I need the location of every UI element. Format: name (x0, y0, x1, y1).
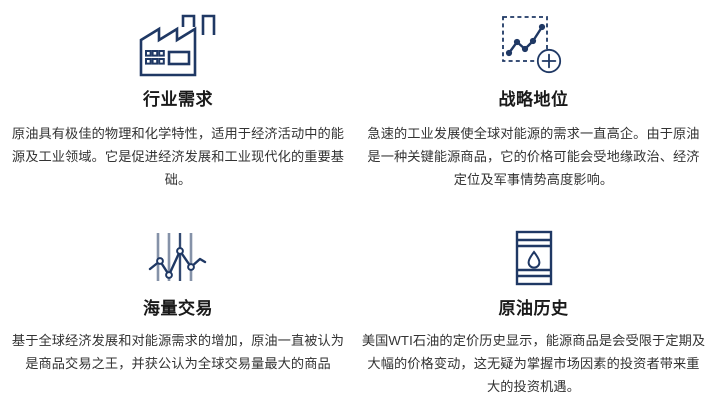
card-title: 行业需求 (143, 90, 213, 110)
factory-icon (137, 6, 219, 86)
feature-grid: 行业需求 原油具有极佳的物理和化学特性，适用于经济活动中的能源及工业领域。它是促… (0, 0, 711, 414)
card-body: 急速的工业发展使全球对能源的需求一直高企。由于原油是一种关键能源商品，它的价格可… (362, 123, 706, 191)
chart-selection-add-icon (501, 6, 567, 86)
oil-barrel-icon (512, 221, 556, 295)
card-body: 基于全球经济发展和对能源需求的增加，原油一直被认为是商品交易之王，并获公认为全球… (6, 330, 350, 375)
card-title: 战略地位 (499, 90, 569, 110)
feature-card-crude-oil-history: 原油历史 美国WTI石油的定价历史显示，能源商品是会受限于定期及大幅的价格变动，… (356, 207, 711, 414)
feature-card-massive-trading: 海量交易 基于全球经济发展和对能源需求的增加，原油一直被认为是商品交易之王，并获… (0, 207, 356, 414)
feature-card-industry-demand: 行业需求 原油具有极佳的物理和化学特性，适用于经济活动中的能源及工业领域。它是促… (0, 0, 356, 207)
card-body: 美国WTI石油的定价历史显示，能源商品是会受限于定期及大幅的价格变动，这无疑为掌… (362, 330, 706, 398)
card-title: 原油历史 (499, 299, 569, 319)
volume-bars-line-chart-icon (147, 221, 209, 295)
card-title: 海量交易 (143, 299, 213, 319)
feature-card-strategic-position: 战略地位 急速的工业发展使全球对能源的需求一直高企。由于原油是一种关键能源商品，… (356, 0, 711, 207)
card-body: 原油具有极佳的物理和化学特性，适用于经济活动中的能源及工业领域。它是促进经济发展… (6, 123, 350, 191)
